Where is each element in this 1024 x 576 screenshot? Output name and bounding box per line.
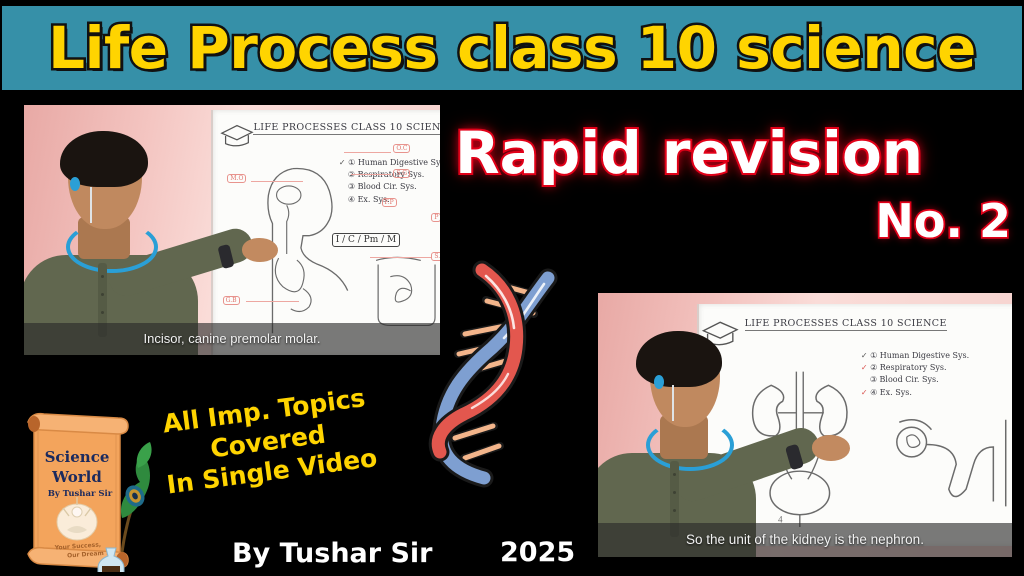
whiteboard-heading-2: LIFE PROCESSES CLASS 10 SCIENCE bbox=[745, 318, 947, 331]
svg-text:Science: Science bbox=[45, 448, 110, 466]
board-pointer-line bbox=[351, 174, 391, 175]
list-label: Blood Cir. Sys. bbox=[880, 375, 939, 384]
list-number: ② bbox=[870, 363, 877, 372]
video-thumbnail-1[interactable]: LIFE PROCESSES CLASS 10 SCIENCE ✓ ① Huma… bbox=[24, 105, 440, 355]
banner-title-text: Life Process class 10 science bbox=[48, 14, 976, 82]
list-item: ✓ ② Respiratory Sys. bbox=[861, 362, 969, 374]
list-label: Ex. Sys. bbox=[880, 388, 912, 397]
channel-logo: Science World By Tushar Sir Your Success… bbox=[22, 404, 152, 572]
whiteboard-list-2: ✓ ① Human Digestive Sys. ✓ ② Respiratory… bbox=[861, 350, 969, 400]
board-tag: P bbox=[431, 213, 440, 222]
svg-text:By Tushar Sir: By Tushar Sir bbox=[48, 489, 113, 499]
thumbnail-canvas: Life Process class 10 science Rapid revi… bbox=[0, 0, 1024, 576]
list-item: ③ Blood Cir. Sys. bbox=[861, 374, 969, 386]
headline-rapid-revision: Rapid revision bbox=[455, 124, 1015, 182]
list-label: Respiratory Sys. bbox=[880, 363, 947, 372]
list-number: ③ bbox=[870, 375, 877, 384]
video-thumbnail-2[interactable]: LIFE PROCESSES CLASS 10 SCIENCE ✓ ① Huma… bbox=[598, 293, 1012, 557]
whiteboard-heading-1: LIFE PROCESSES CLASS 10 SCIENCE bbox=[253, 122, 440, 135]
dna-helix-graphic bbox=[420, 252, 570, 492]
list-item: ✓ ④ Ex. Sys. bbox=[861, 387, 969, 399]
list-item: ✓ ① Human Digestive Sys. bbox=[861, 350, 969, 362]
board-pointer-line bbox=[344, 152, 391, 153]
nephron-sketch bbox=[877, 406, 1012, 518]
caption-bar-1: Incisor, canine premolar molar. bbox=[24, 323, 440, 356]
headline-episode-number: No. 2 bbox=[455, 198, 1011, 244]
board-tag: O.C bbox=[393, 144, 410, 153]
caption-text-2: So the unit of the kidney is the nephron… bbox=[686, 532, 924, 547]
tick-icon: ✓ bbox=[861, 351, 868, 360]
board-pointer-line bbox=[246, 301, 298, 302]
caption-text-1: Incisor, canine premolar molar. bbox=[143, 331, 320, 346]
credit-author: By Tushar Sir bbox=[232, 538, 433, 569]
board-tag: F.P bbox=[382, 198, 397, 207]
title-banner: Life Process class 10 science bbox=[2, 6, 1022, 90]
list-number: ① bbox=[870, 351, 877, 360]
caption-bar-2: So the unit of the kidney is the nephron… bbox=[598, 523, 1012, 557]
board-tag: S.G bbox=[393, 169, 410, 178]
credit-year: 2025 bbox=[500, 537, 575, 568]
list-label: Human Digestive Sys. bbox=[880, 351, 969, 360]
svg-text:World: World bbox=[51, 468, 102, 486]
board-pointer-line bbox=[251, 181, 303, 182]
board-tag: M.O bbox=[227, 174, 246, 183]
promo-text-block: All Imp. Topics Covered In Single Video bbox=[143, 381, 393, 503]
board-tag: G.B bbox=[223, 296, 240, 305]
list-number: ④ bbox=[870, 388, 877, 397]
